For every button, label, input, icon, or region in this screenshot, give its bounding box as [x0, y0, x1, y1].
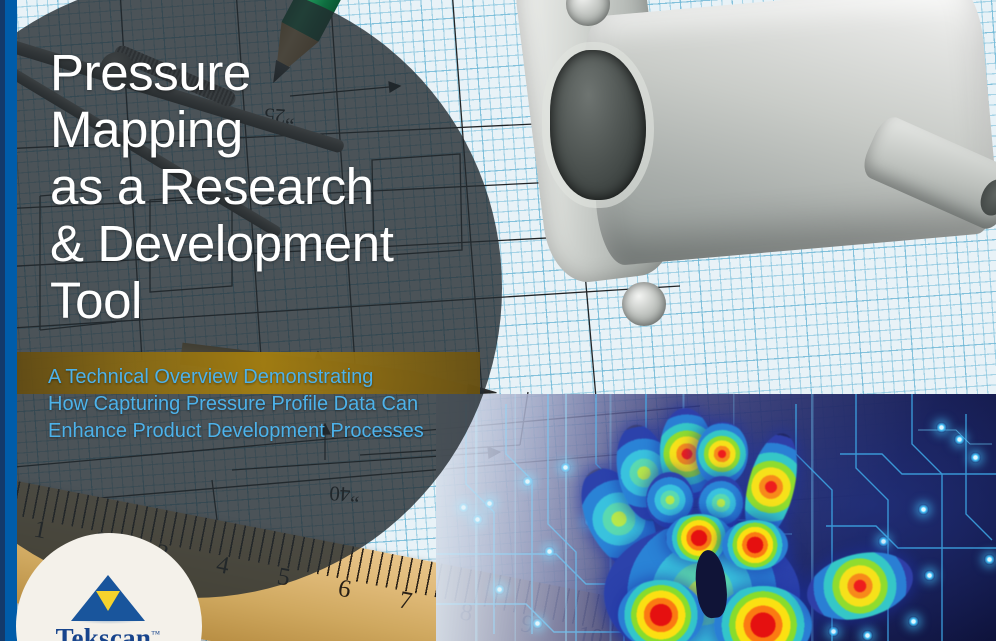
pressure-map-handprint — [556, 414, 976, 641]
subtitle-line: Enhance Product Development Processes — [48, 418, 478, 445]
tekscan-wordmark: Tekscan™ — [52, 625, 164, 641]
tekscan-logo: Tekscan™ — [52, 575, 164, 641]
tekscan-triangle-icon — [71, 575, 145, 621]
trademark-symbol: ™ — [151, 629, 160, 639]
headline-line: as a Research — [50, 158, 470, 215]
headline-line: Pressure — [50, 44, 470, 101]
part-boss-bottom — [622, 282, 666, 326]
subtitle-line: How Capturing Pressure Profile Data Can — [48, 391, 478, 418]
circuit-board-panel — [436, 394, 996, 641]
headline-line: Tool — [50, 272, 470, 329]
aluminium-casting-part — [470, 0, 996, 360]
cover-page: ”25 ”5 ”40 ”8 cm 0 1 2 3 4 5 6 7 — [0, 0, 996, 641]
ruler-mark: 6 — [336, 575, 354, 605]
brand-bar-blue — [5, 0, 17, 641]
headline-line: Mapping — [50, 101, 470, 158]
page-title: Pressure Mapping as a Research & Develop… — [50, 44, 470, 330]
subtitle-line: A Technical Overview Demonstrating — [48, 364, 478, 391]
wordmark-text: Tekscan — [56, 623, 152, 641]
page-subtitle: A Technical Overview Demonstrating How C… — [48, 364, 478, 445]
headline-line: & Development — [50, 215, 470, 272]
ruler-mark: 7 — [397, 586, 415, 616]
